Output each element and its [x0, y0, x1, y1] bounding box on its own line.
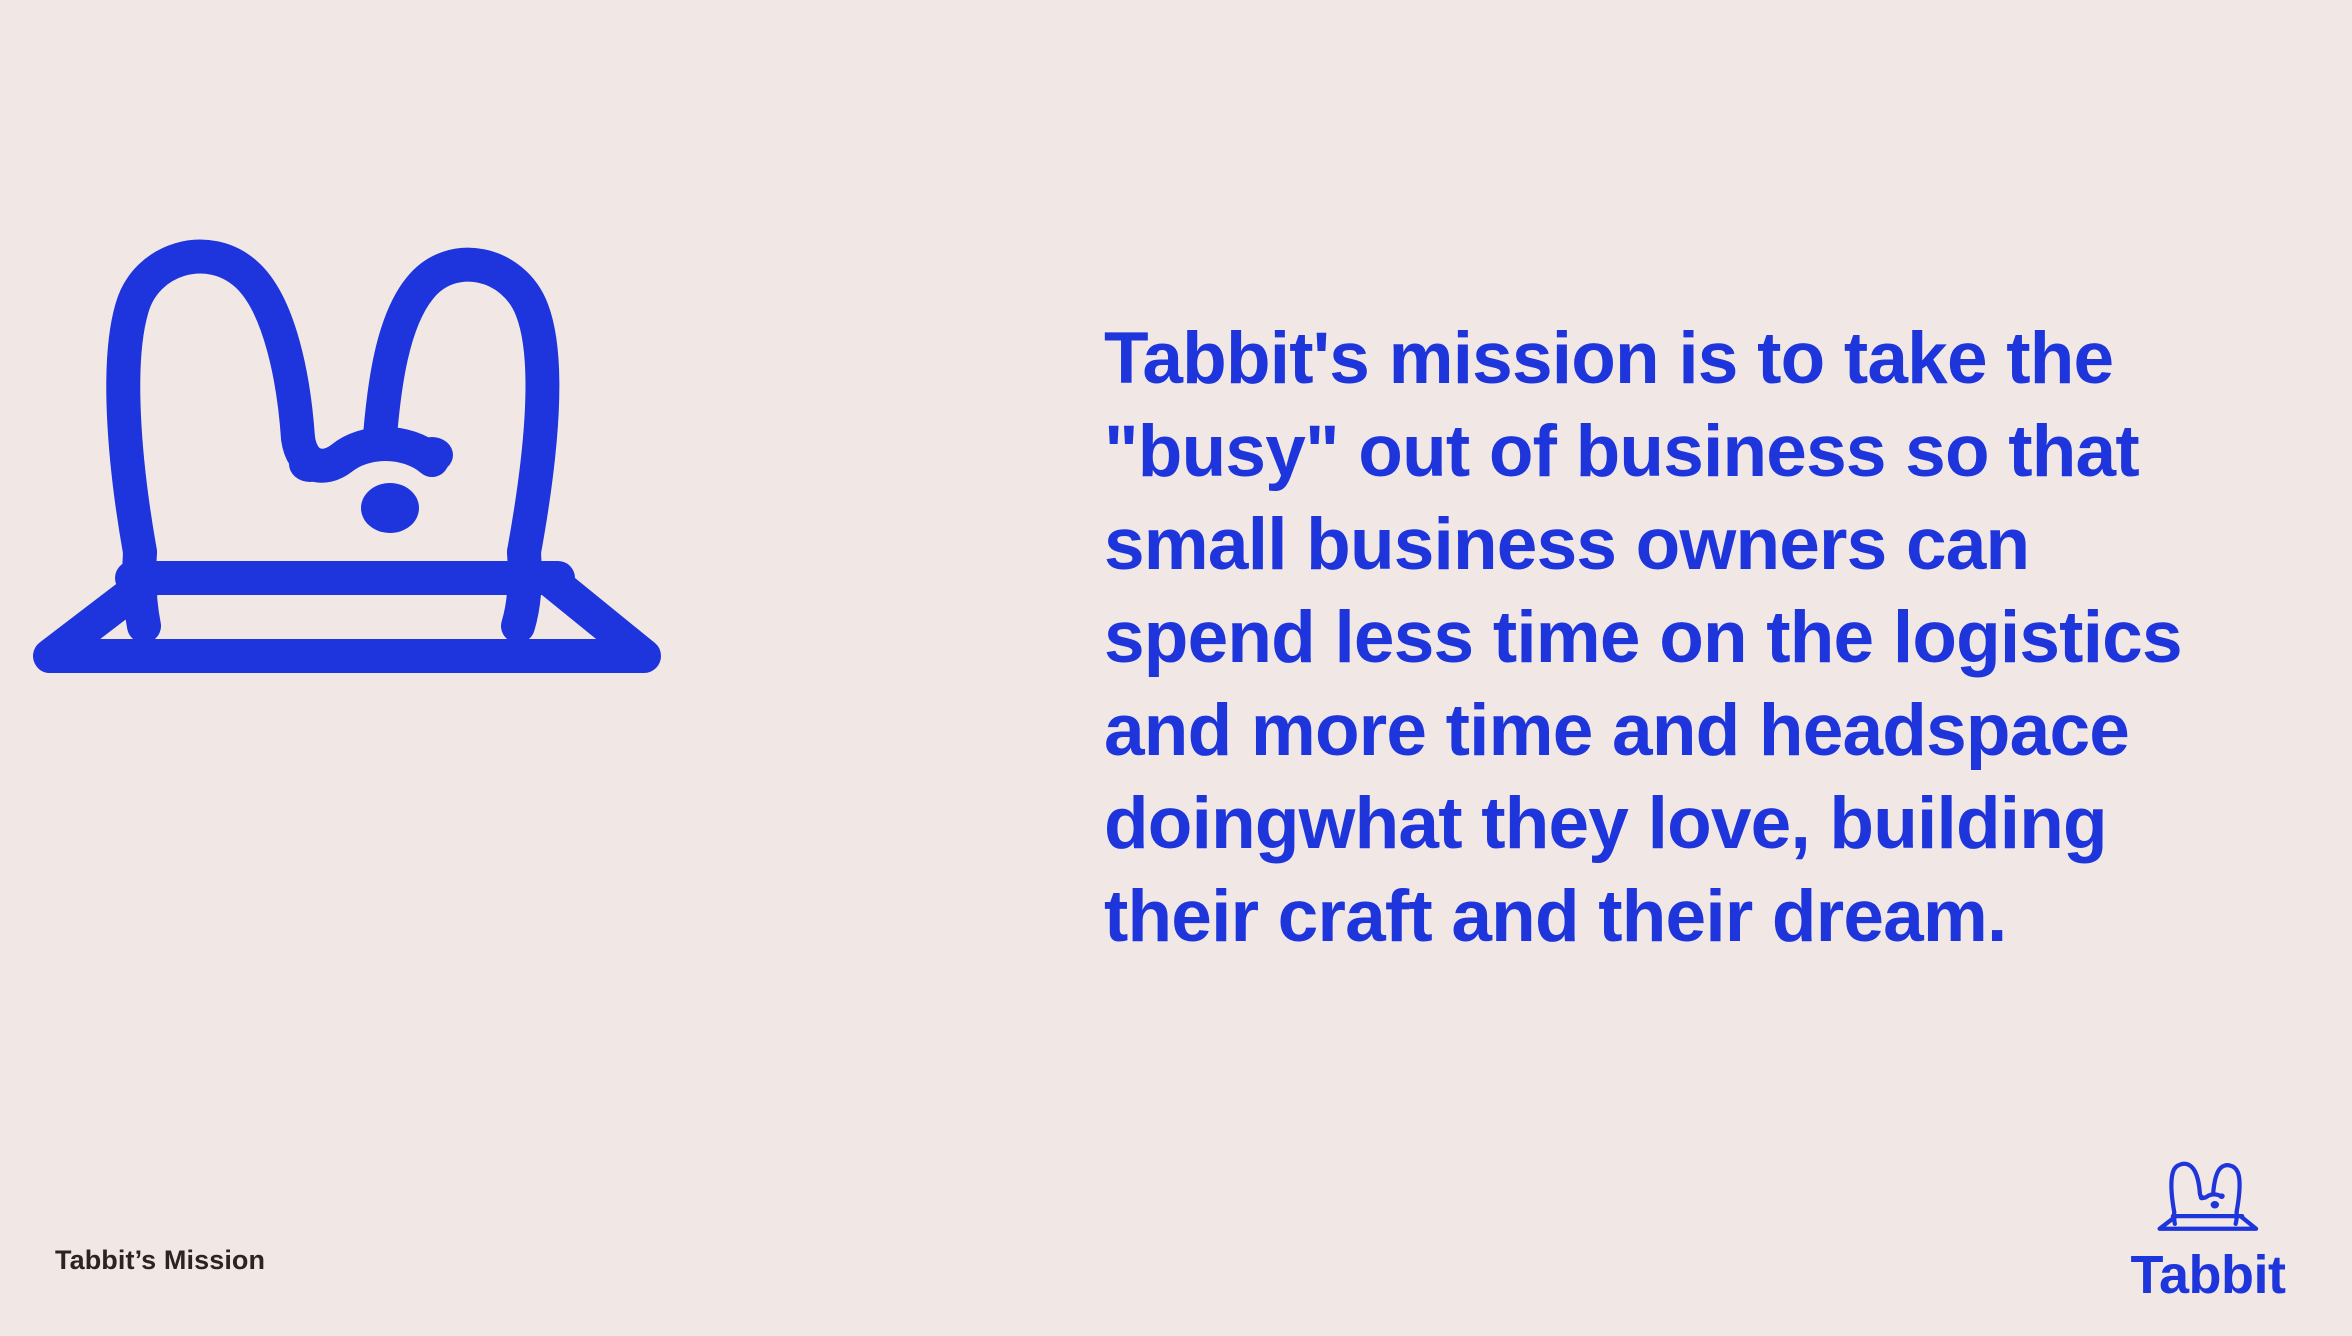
- mission-line: their craft and their dream.: [1104, 870, 2319, 963]
- rabbit-outline-group: [50, 257, 644, 656]
- logo-outline-group: [2160, 1164, 2257, 1229]
- tabbit-rabbit-in-hole-illustration: [28, 212, 668, 672]
- left-eye-icon: [289, 446, 331, 482]
- mission-line: spend less time on the logistics: [1104, 591, 2319, 684]
- mission-line: Tabbit's mission is to take the: [1104, 312, 2319, 405]
- logo-right-eye-icon: [2219, 1193, 2225, 1199]
- brand-logo: Tabbit: [2104, 1148, 2312, 1302]
- left-ear-path: [123, 257, 298, 552]
- mission-statement: Tabbit's mission is to take the "busy" o…: [1104, 312, 2319, 963]
- mission-line: doingwhat they love, building: [1104, 777, 2319, 870]
- slide-canvas: Tabbit's mission is to take the "busy" o…: [0, 0, 2352, 1336]
- logo-left-ear-path: [2171, 1164, 2199, 1212]
- mission-line: "busy" out of business so that: [1104, 405, 2319, 498]
- mission-line: and more time and headspace: [1104, 684, 2319, 777]
- tabbit-rabbit-logo-icon: [2156, 1148, 2260, 1240]
- rabbit-logo-svg: [2156, 1148, 2260, 1240]
- mission-line: small business owners can: [1104, 498, 2319, 591]
- logo-wordmark: Tabbit: [2131, 1248, 2286, 1302]
- right-eye-icon: [411, 437, 453, 473]
- rabbit-illustration-svg: [28, 212, 668, 672]
- logo-left-eye-icon: [2199, 1195, 2205, 1201]
- footer-caption: Tabbit’s Mission: [55, 1245, 265, 1276]
- nose-icon: [361, 483, 419, 533]
- logo-nose-icon: [2211, 1201, 2219, 1208]
